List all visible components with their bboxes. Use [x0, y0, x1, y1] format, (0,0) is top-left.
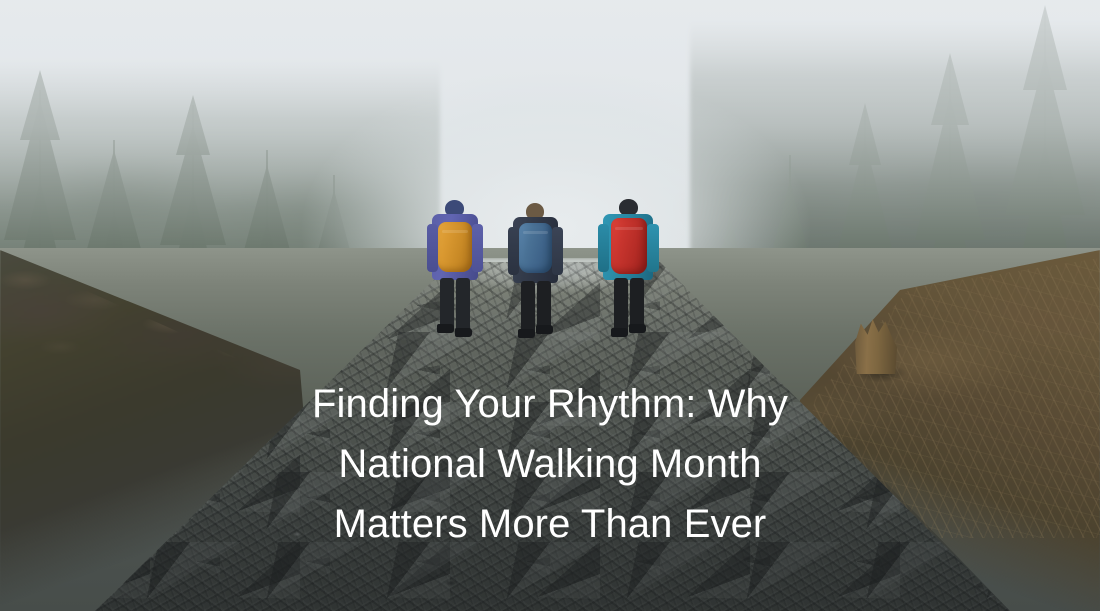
hiker-arm-right — [552, 227, 563, 275]
hiker-boot-left — [518, 329, 535, 338]
blog-hero-banner: Finding Your Rhythm: Why National Walkin… — [0, 0, 1100, 611]
hero-title-line-2: National Walking Month — [40, 434, 1060, 494]
hiker-arm-left — [598, 224, 609, 272]
hiker-boot-right — [629, 324, 646, 333]
hiker-boot-left — [437, 324, 454, 333]
hiker-center — [504, 203, 566, 351]
hero-title-line-1: Finding Your Rhythm: Why — [40, 374, 1060, 434]
hero-title-line-3: Matters More Than Ever — [40, 494, 1060, 554]
hiker-boot-right — [455, 328, 472, 337]
hiker-arm-right — [647, 224, 659, 272]
hiker-left — [424, 200, 486, 350]
hiker-leg-left — [614, 278, 628, 332]
hiker-right — [596, 199, 662, 351]
hiker-boot-left — [611, 328, 628, 337]
hiker-leg-left — [440, 278, 454, 328]
hiker-arm-left — [427, 224, 438, 272]
hiker-arm-left — [508, 227, 519, 275]
backpack-strap — [523, 231, 548, 234]
hiker-boot-right — [536, 325, 553, 334]
hero-title: Finding Your Rhythm: Why National Walkin… — [0, 374, 1100, 554]
hiker-leg-right — [456, 278, 470, 330]
hiker-leg-right — [630, 278, 644, 330]
hiker-arm-right — [472, 224, 483, 272]
backpack-strap — [615, 227, 643, 230]
backpack-strap — [442, 230, 468, 233]
hiker-leg-right — [537, 281, 551, 331]
hiker-leg-left — [521, 281, 535, 333]
